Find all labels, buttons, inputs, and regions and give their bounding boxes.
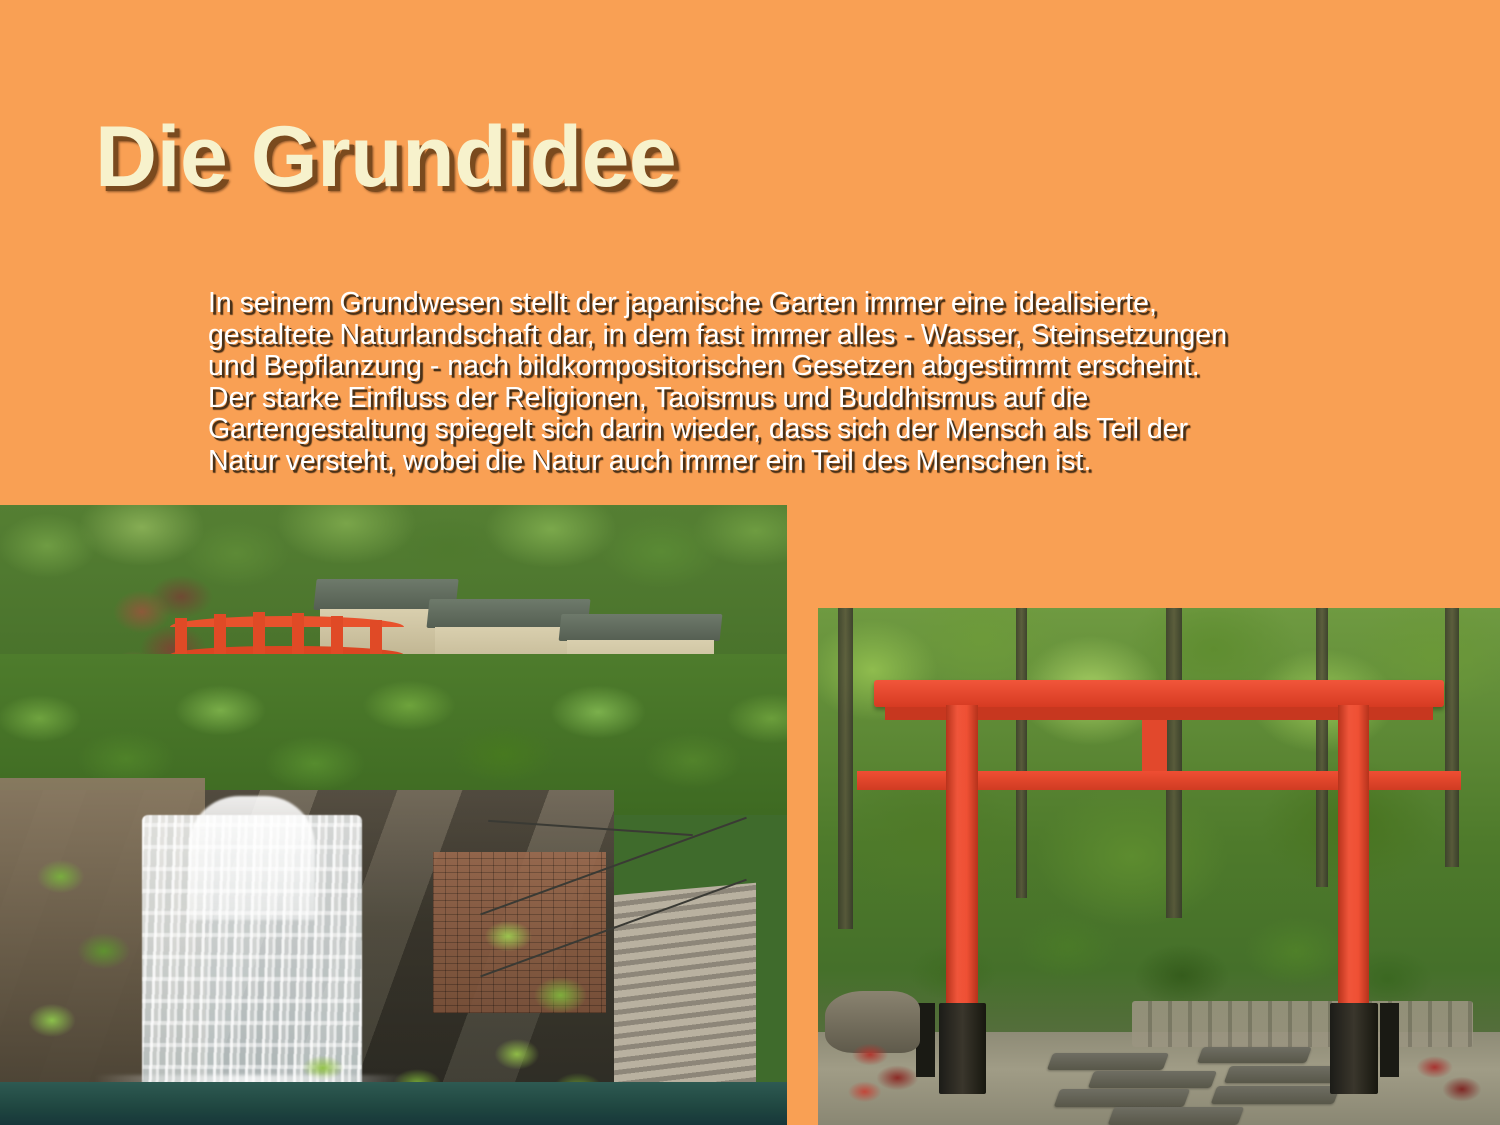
shrub-left — [0, 827, 173, 1075]
torii-gate-photo — [818, 608, 1500, 1125]
roof-icon — [559, 614, 722, 641]
tree-trunk — [838, 608, 853, 929]
waterfall-top-cascade — [189, 796, 315, 920]
torii-base-right — [1330, 1003, 1378, 1094]
red-maple-shrub-left — [832, 1022, 941, 1115]
stepping-stone — [1108, 1107, 1244, 1125]
torii-center-strut — [1142, 720, 1167, 772]
stone-stairs — [614, 883, 756, 1106]
body-paragraph: In seinem Grundwesen stellt der japanisc… — [208, 288, 1430, 477]
tree-trunk — [1445, 608, 1459, 867]
bridge-post — [292, 613, 304, 657]
torii-base-left — [939, 1003, 987, 1094]
torii-gate — [879, 680, 1438, 1094]
slide: Die Grundidee In seinem Grundwesen stell… — [0, 0, 1500, 1125]
bridge-post — [214, 614, 226, 655]
red-maple-shrub-right — [1391, 1032, 1500, 1120]
pond-water — [0, 1082, 787, 1125]
page-title: Die Grundidee — [95, 112, 676, 202]
bridge-post — [253, 612, 265, 655]
bridge-post — [175, 618, 187, 657]
japanese-garden-waterfall-photo — [0, 505, 787, 1125]
torii-top-lintel — [874, 680, 1444, 707]
